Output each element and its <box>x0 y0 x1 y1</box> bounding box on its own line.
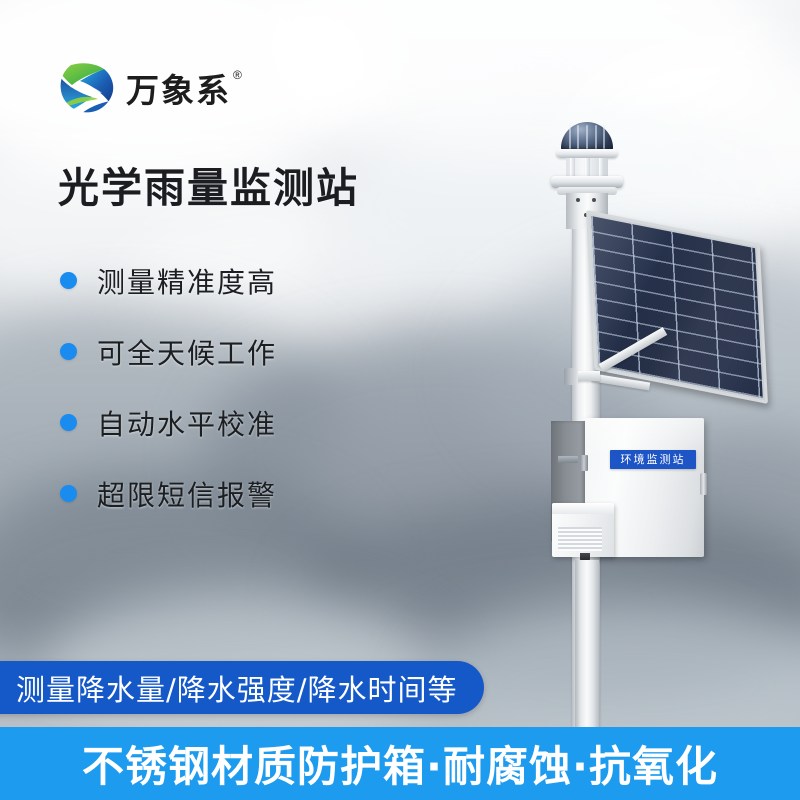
feature-list: 测量精准度高 可全天候工作 自动水平校准 超限短信报警 <box>60 256 277 540</box>
page-title: 光学雨量监测站 <box>58 165 359 212</box>
footer-bar-text: 不锈钢材质防护箱·耐腐蚀·抗氧化 <box>82 733 718 794</box>
list-item: 超限短信报警 <box>60 469 277 518</box>
bullet-dot-icon <box>60 485 77 502</box>
brand-name-wrap: 万象系 ® <box>126 66 242 107</box>
list-item: 自动水平校准 <box>60 398 277 447</box>
poster-canvas: 环境监测站 <box>0 0 800 800</box>
list-item: 可全天候工作 <box>60 327 277 376</box>
brand-name: 万象系 <box>126 74 231 107</box>
feature-label: 可全天候工作 <box>97 332 277 372</box>
footer-bar: 不锈钢材质防护箱·耐腐蚀·抗氧化 <box>0 727 800 800</box>
registered-trademark-icon: ® <box>233 68 242 82</box>
bullet-dot-icon <box>60 414 77 431</box>
measurement-banner-text: 测量降水量/降水强度/降水时间等 <box>16 667 458 709</box>
bullet-dot-icon <box>60 343 77 360</box>
feature-label: 测量精准度高 <box>97 261 277 301</box>
feature-label: 超限短信报警 <box>97 474 277 514</box>
list-item: 测量精准度高 <box>60 256 277 305</box>
measurement-banner: 测量降水量/降水强度/降水时间等 <box>0 661 484 714</box>
globe-swirl-icon <box>58 57 116 115</box>
bullet-dot-icon <box>60 272 77 289</box>
feature-label: 自动水平校准 <box>97 403 277 443</box>
brand-logo: 万象系 ® <box>58 57 242 115</box>
